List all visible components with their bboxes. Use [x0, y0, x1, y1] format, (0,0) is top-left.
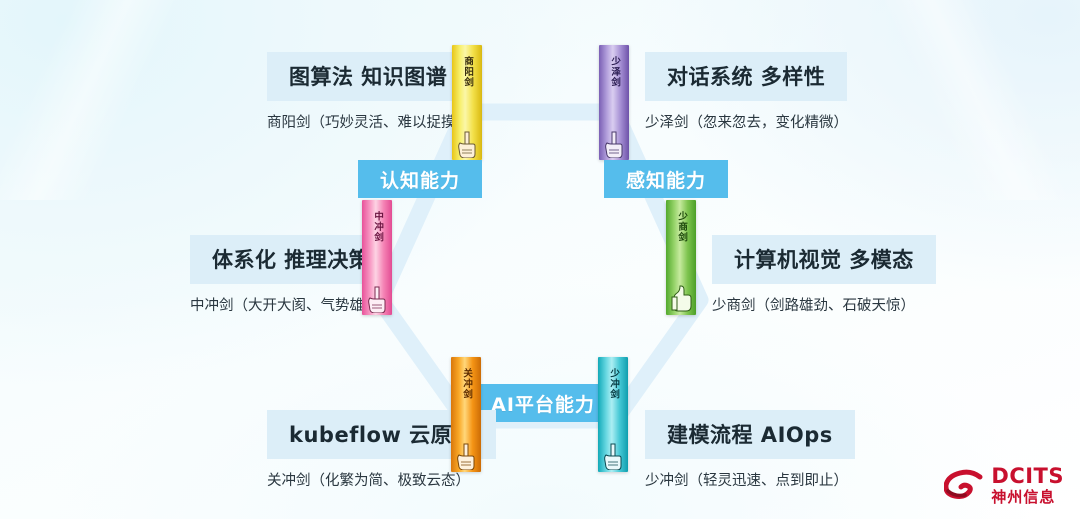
thumbs-up-icon — [668, 283, 694, 313]
capability-pill-ai-platform[interactable]: AI平台能力 — [476, 384, 610, 422]
node-subtitle: 关冲剑（化繁为简、极致云态） — [267, 469, 496, 490]
node-title-box: 建模流程 AIOps — [645, 410, 855, 459]
sword-label: 中冲剑 — [372, 211, 382, 243]
node-knowledge-graph: 图算法 知识图谱 商阳剑（巧妙灵活、难以捉摸） — [267, 52, 470, 132]
slide-canvas: 图算法 知识图谱 商阳剑（巧妙灵活、难以捉摸） 商阳剑 对话系统 多样性 少泽剑… — [0, 0, 1080, 519]
capability-label: 认知能力 — [380, 166, 460, 193]
node-title: 对话系统 多样性 — [667, 65, 825, 89]
capability-label: 感知能力 — [626, 166, 706, 193]
node-subtitle: 少泽剑（忽来忽去，变化精微） — [645, 111, 848, 132]
node-title: 计算机视觉 多模态 — [734, 248, 914, 272]
sword-pillar-zhongchong[interactable]: 中冲剑 — [362, 200, 392, 315]
node-computer-vision: 计算机视觉 多模态 少商剑（剑路雄劲、石破天惊） — [712, 235, 936, 315]
node-subtitle: 少冲剑（轻灵迅速、点到即止） — [645, 469, 855, 490]
company-logo: DCITS 神州信息 — [944, 466, 1064, 505]
pointing-finger-icon — [364, 283, 390, 313]
node-title: 建模流程 AIOps — [667, 423, 833, 447]
node-subtitle: 少商剑（剑路雄劲、石破天惊） — [712, 294, 936, 315]
sword-pillar-shangyang[interactable]: 商阳剑 — [452, 45, 482, 160]
sword-label: 少商剑 — [676, 211, 686, 243]
capability-label: AI平台能力 — [491, 390, 595, 417]
pointing-finger-icon — [600, 440, 626, 470]
sword-pillar-shaoze[interactable]: 少泽剑 — [599, 45, 629, 160]
node-title: kubeflow 云原生 — [289, 423, 474, 447]
logo-wordmark: DCITS 神州信息 — [991, 466, 1064, 505]
swoosh-e-icon — [944, 468, 984, 504]
capability-pill-perceptive[interactable]: 感知能力 — [604, 160, 728, 198]
sword-pillar-shaochong[interactable]: 少冲剑 — [598, 357, 628, 472]
node-subtitle: 商阳剑（巧妙灵活、难以捉摸） — [267, 111, 470, 132]
logo-latin: DCITS — [991, 466, 1064, 487]
pointing-finger-icon — [601, 128, 627, 158]
node-title-box: 图算法 知识图谱 — [267, 52, 469, 101]
node-title: 图算法 知识图谱 — [289, 65, 447, 89]
node-dialogue-system: 对话系统 多样性 少泽剑（忽来忽去，变化精微） — [645, 52, 848, 132]
sword-label: 少冲剑 — [608, 368, 618, 400]
sword-label: 商阳剑 — [462, 56, 472, 88]
sword-label: 关冲剑 — [461, 368, 471, 400]
sword-pillar-guanchong[interactable]: 关冲剑 — [451, 357, 481, 472]
pointing-finger-icon — [453, 440, 479, 470]
sword-label: 少泽剑 — [609, 56, 619, 88]
capability-pill-cognitive[interactable]: 认知能力 — [358, 160, 482, 198]
pointing-finger-icon — [454, 128, 480, 158]
logo-chinese: 神州信息 — [991, 490, 1064, 505]
node-modeling-aiops: 建模流程 AIOps 少冲剑（轻灵迅速、点到即止） — [645, 410, 855, 490]
node-title-box: 对话系统 多样性 — [645, 52, 847, 101]
sword-pillar-shaoshang[interactable]: 少商剑 — [666, 200, 696, 315]
node-title-box: 计算机视觉 多模态 — [712, 235, 936, 284]
node-title: 体系化 推理决策 — [212, 248, 370, 272]
